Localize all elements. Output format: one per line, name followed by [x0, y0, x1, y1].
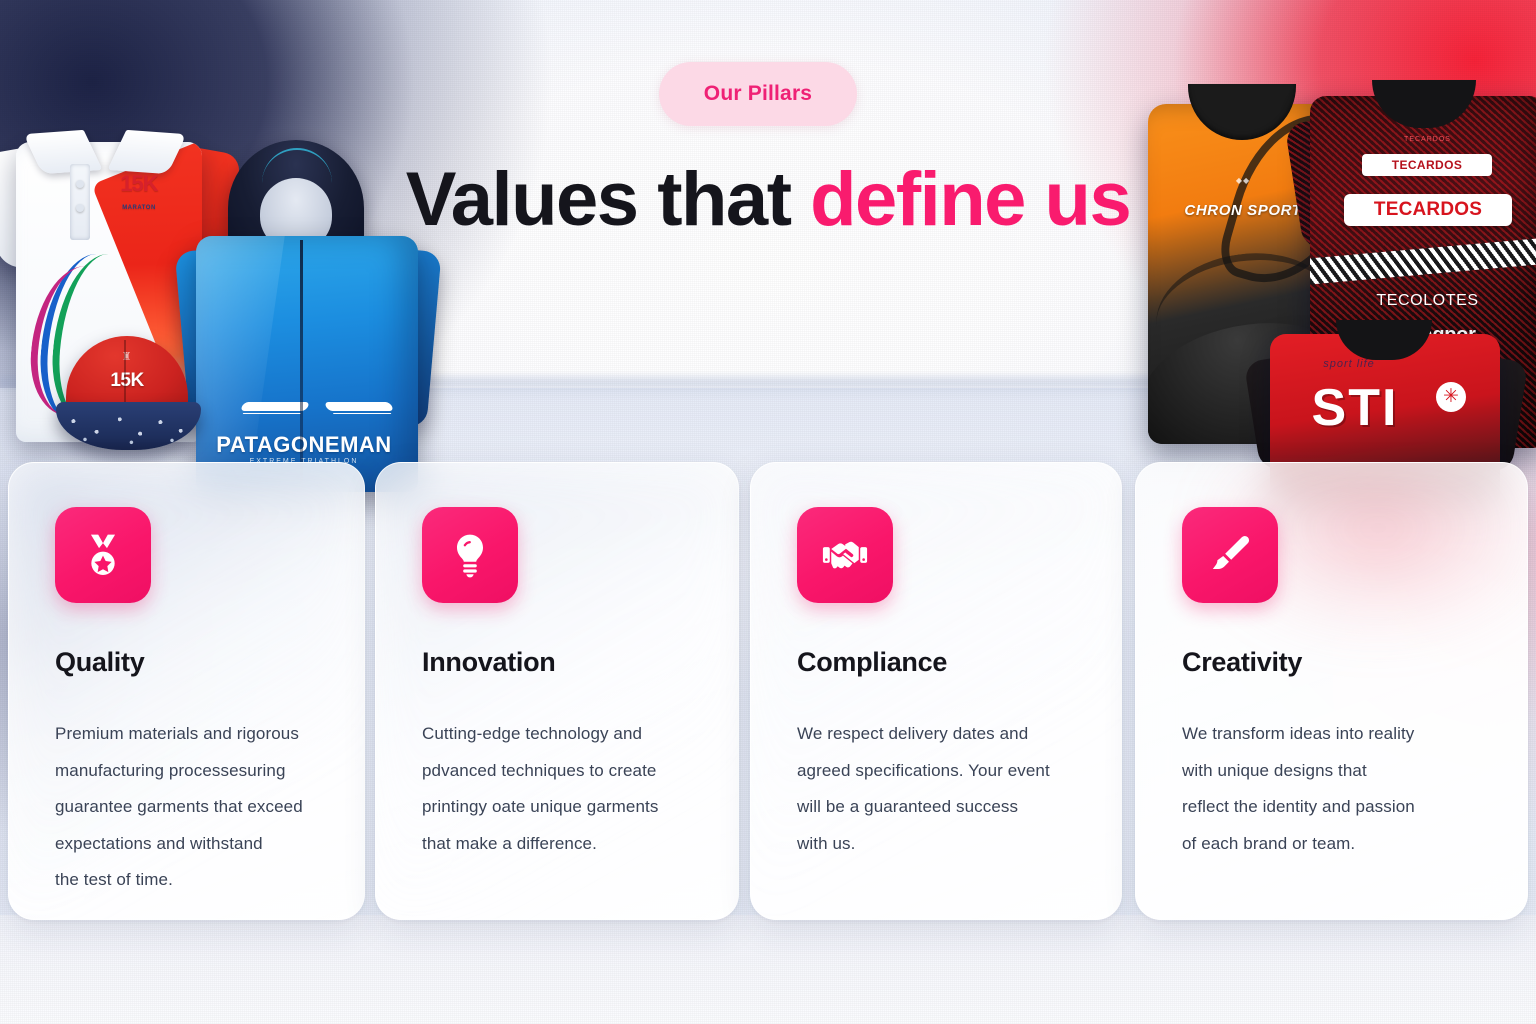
card-description: Cutting-edge technology and pdvanced tec…	[422, 716, 692, 862]
section-badge-label: Our Pillars	[704, 82, 812, 106]
value-card-innovation[interactable]: Innovation Cutting-edge technology and p…	[375, 462, 739, 920]
card-line: will be a guaranteed success	[797, 789, 1075, 826]
card-line: Cutting-edge technology and	[422, 716, 692, 753]
card-title: Innovation	[422, 647, 692, 678]
lightbulb-icon	[422, 507, 518, 603]
card-line: with unique designs that	[1182, 753, 1481, 790]
card-line: reflect the identity and passion	[1182, 789, 1481, 826]
card-line: pdvanced techniques to create	[422, 753, 692, 790]
cap-brim	[56, 402, 201, 450]
cap-logo-text: 15K	[66, 370, 188, 392]
card-line: Premium materials and rigorous	[55, 716, 318, 753]
jacket-brand-text: PATAGONEMAN	[196, 432, 412, 458]
jacket-zipper	[300, 240, 303, 490]
card-title: Quality	[55, 647, 318, 678]
jersey-text-secondary: TECOLOTES	[1310, 292, 1536, 310]
card-line: We respect delivery dates and	[797, 716, 1075, 753]
card-description: We transform ideas into reality with uni…	[1182, 716, 1481, 862]
card-content: Creativity We transform ideas into reali…	[1182, 507, 1481, 862]
card-description: We respect delivery dates and agreed spe…	[797, 716, 1075, 862]
section-badge[interactable]: Our Pillars	[659, 62, 857, 126]
values-card-grid: Quality Premium materials and rigorous m…	[0, 462, 1536, 920]
value-card-quality[interactable]: Quality Premium materials and rigorous m…	[8, 462, 365, 920]
card-line: with us.	[797, 826, 1075, 863]
card-line: agreed specifications. Your event	[797, 753, 1075, 790]
value-card-creativity[interactable]: Creativity We transform ideas into reali…	[1135, 462, 1528, 920]
card-content: Compliance We respect delivery dates and…	[797, 507, 1075, 862]
card-title: Creativity	[1182, 647, 1481, 678]
card-line: guarantee garments that exceed	[55, 789, 318, 826]
card-line: the test of time.	[55, 862, 318, 899]
card-line: manufacturing processesuring	[55, 753, 318, 790]
card-line: that make a difference.	[422, 826, 692, 863]
handshake-icon	[797, 507, 893, 603]
sti-star-badge: ✳	[1436, 382, 1466, 412]
background-bottom-band	[0, 915, 1536, 1024]
card-line: We transform ideas into reality	[1182, 716, 1481, 753]
jersey-micro-text: TECARDOS	[1310, 136, 1536, 143]
card-line: of each brand or team.	[1182, 826, 1481, 863]
paintbrush-icon	[1182, 507, 1278, 603]
card-line: expectations and withstand	[55, 826, 318, 863]
page-title-primary: Values that	[406, 157, 791, 242]
jacket-wing-logo	[242, 396, 392, 422]
card-content: Quality Premium materials and rigorous m…	[55, 507, 318, 899]
cap-graphic: ♜ 15K	[56, 336, 201, 454]
cap-crest: ♜	[66, 350, 188, 363]
page-title: Values that define us	[0, 156, 1536, 244]
jersey-diagonal-band	[1310, 237, 1536, 285]
card-content: Innovation Cutting-edge technology and p…	[422, 507, 692, 862]
page-stage: 15K MARATON PATAGONEMAN EXTREME TRIATHLO…	[0, 0, 1536, 1024]
card-title: Compliance	[797, 647, 1075, 678]
jacket-torso: PATAGONEMAN EXTREME TRIATHLON	[196, 236, 418, 492]
card-line: printingy oate unique garments	[422, 789, 692, 826]
card-description: Premium materials and rigorous manufactu…	[55, 716, 318, 899]
sti-main-text: STI	[1280, 380, 1430, 436]
medal-icon	[55, 507, 151, 603]
value-card-compliance[interactable]: Compliance We respect delivery dates and…	[750, 462, 1122, 920]
page-title-accent: define us	[810, 157, 1130, 242]
